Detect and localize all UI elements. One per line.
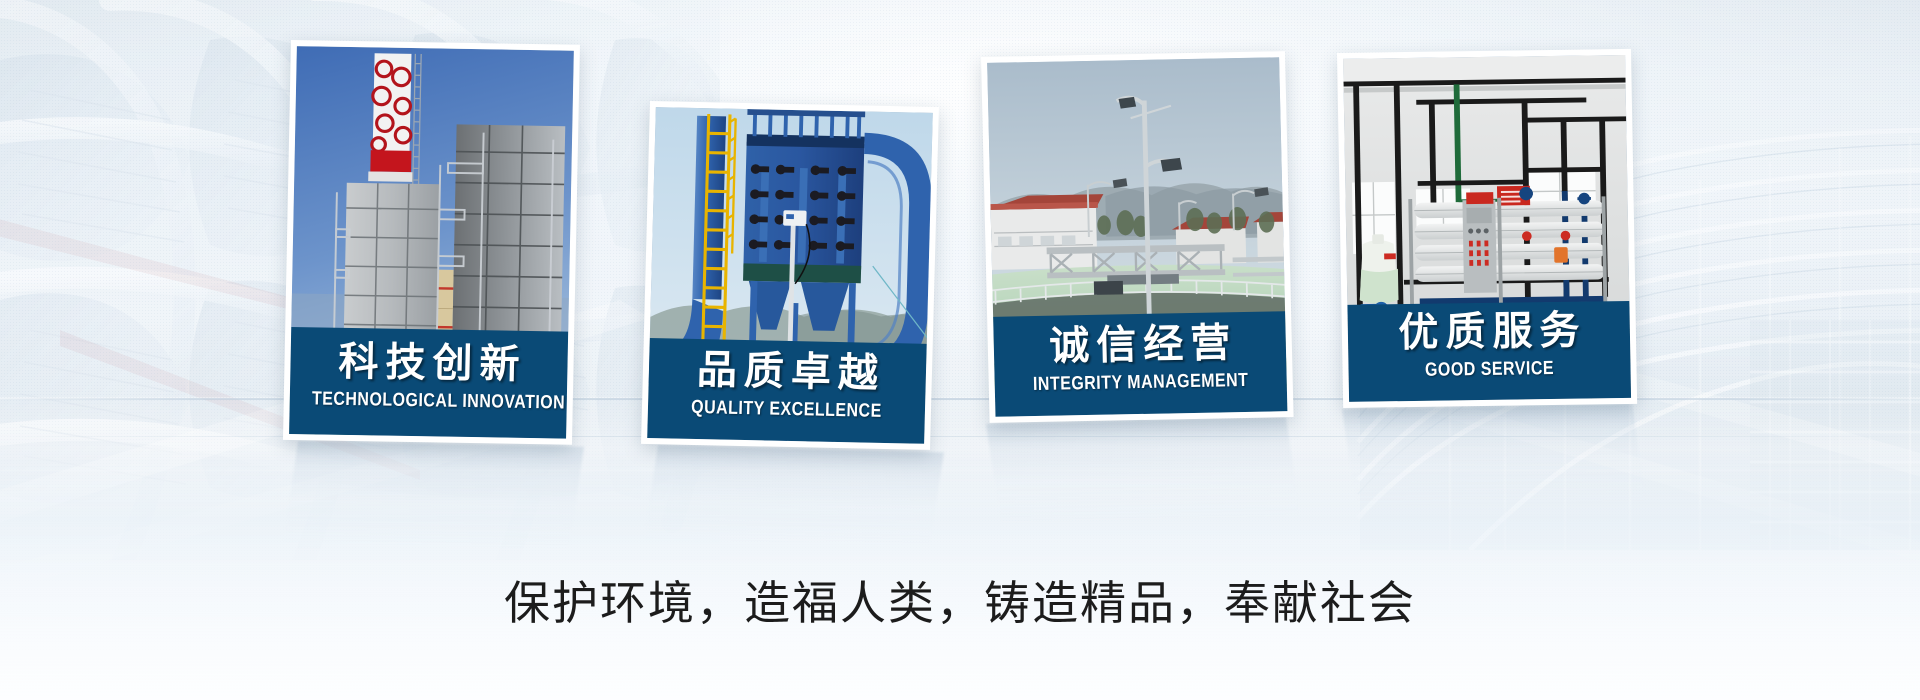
panel-title-en: TECHNOLOGICAL INNOVATION [312,388,545,416]
panel-title-cn: 诚信经营 [1000,321,1286,370]
company-values-banner: 科技创新 TECHNOLOGICAL INNOVATION [0,0,1920,700]
panel-title-en: GOOD SERVICE [1371,356,1608,383]
panel-title-cn: 品质卓越 [655,348,926,397]
panel-title-en: QUALITY EXCELLENCE [670,396,903,425]
value-panel-integrity-management[interactable]: 诚信经营 INTEGRITY MANAGEMENT [981,51,1294,423]
panel-inner: 诚信经营 INTEGRITY MANAGEMENT [987,57,1287,417]
panel-inner: 优质服务 GOOD SERVICE [1343,55,1631,402]
panel-caption: 诚信经营 INTEGRITY MANAGEMENT [993,311,1287,417]
panel-caption: 优质服务 GOOD SERVICE [1347,301,1631,402]
panel-caption: 品质卓越 QUALITY EXCELLENCE [647,338,927,444]
panel-title-cn: 优质服务 [1355,309,1631,356]
banner-tagline: 保护环境，造福人类，铸造精品，奉献社会 [0,575,1920,633]
value-panel-good-service[interactable]: 优质服务 GOOD SERVICE [1337,49,1637,408]
panel-title-cn: 科技创新 [297,340,568,388]
panel-inner: 品质卓越 QUALITY EXCELLENCE [647,107,933,444]
value-panel-technological-innovation[interactable]: 科技创新 TECHNOLOGICAL INNOVATION [283,40,580,445]
panel-caption: 科技创新 TECHNOLOGICAL INNOVATION [289,327,568,439]
panel-inner: 科技创新 TECHNOLOGICAL INNOVATION [289,46,574,439]
background-floor-gradient [0,400,1920,700]
panel-title-en: INTEGRITY MANAGEMENT [1018,369,1264,397]
value-panel-quality-excellence[interactable]: 品质卓越 QUALITY EXCELLENCE [641,101,939,450]
